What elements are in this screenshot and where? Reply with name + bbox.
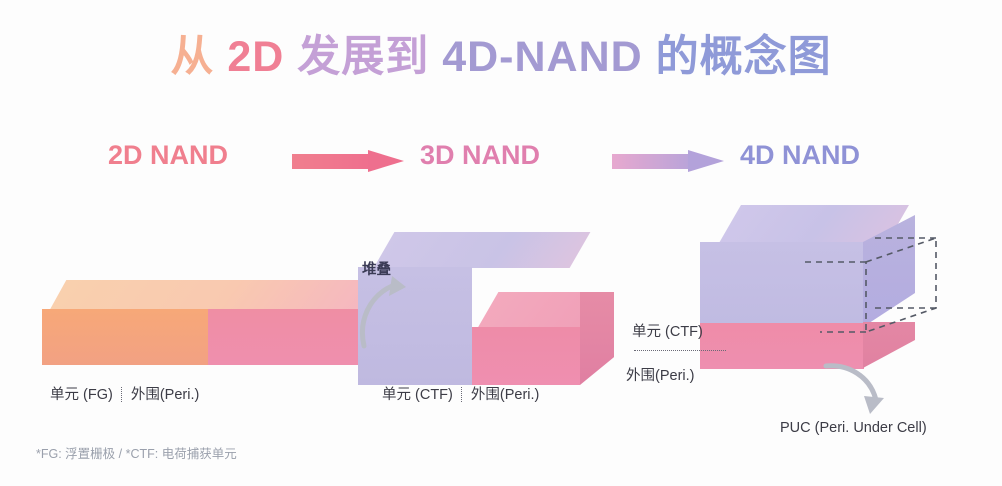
caption-3d: 单元 (CTF)外围(Peri.) bbox=[382, 383, 539, 404]
arrow-3d-to-4d-icon bbox=[612, 150, 724, 172]
curved-arrow-stacking-icon bbox=[352, 272, 422, 350]
caption-2d-cell: 单元 (FG) bbox=[50, 387, 113, 403]
caption-divider bbox=[121, 387, 123, 402]
title-part-5: 的概念图 bbox=[656, 33, 832, 81]
caption-4d-peri: 外围(Peri.) bbox=[626, 364, 694, 385]
title-part-2: 2D bbox=[227, 33, 297, 81]
diagram-canvas: 从 2D 发展到 4D-NAND 的概念图 2D NAND 3D NAND 4D… bbox=[0, 0, 1002, 486]
block-3d-peri-face bbox=[472, 327, 580, 385]
caption-3d-peri: 外围(Peri.) bbox=[471, 387, 539, 403]
caption-2d-peri: 外围(Peri.) bbox=[131, 387, 199, 403]
curved-arrow-puc-icon bbox=[818, 362, 892, 422]
footnote: *FG: 浮置栅极 / *CTF: 电荷捕获单元 bbox=[36, 443, 237, 462]
caption-4d-divider bbox=[634, 350, 726, 351]
stage-label-3d-nand: 3D NAND bbox=[420, 140, 540, 171]
arrow-shaft bbox=[612, 154, 690, 169]
arrow-shaft bbox=[292, 154, 370, 169]
block-2d-cell-face bbox=[42, 309, 208, 365]
block-3d-top-face bbox=[374, 232, 591, 268]
block-3d-side-face bbox=[580, 292, 614, 385]
title-part-3: 发展到 bbox=[297, 33, 442, 81]
block-2d-peri-face bbox=[208, 309, 374, 365]
caption-puc: PUC (Peri. Under Cell) bbox=[780, 420, 927, 436]
caption-4d-cell: 单元 (CTF) bbox=[632, 320, 703, 341]
arrow-2d-to-3d-icon bbox=[292, 150, 404, 172]
arrow-head bbox=[688, 150, 724, 172]
block-2d-nand bbox=[42, 280, 384, 392]
stage-label-2d-nand: 2D NAND bbox=[108, 140, 228, 171]
title-part-1: 从 bbox=[170, 33, 227, 81]
caption-2d: 单元 (FG)外围(Peri.) bbox=[50, 383, 199, 404]
arrow-head bbox=[368, 150, 404, 172]
title-part-4: 4D-NAND bbox=[442, 33, 655, 81]
block-2d-top-face bbox=[50, 280, 377, 310]
caption-3d-cell: 单元 (CTF) bbox=[382, 387, 453, 403]
page-title: 从 2D 发展到 4D-NAND 的概念图 bbox=[0, 22, 1002, 84]
caption-divider bbox=[461, 387, 463, 402]
stage-label-4d-nand: 4D NAND bbox=[740, 140, 860, 171]
